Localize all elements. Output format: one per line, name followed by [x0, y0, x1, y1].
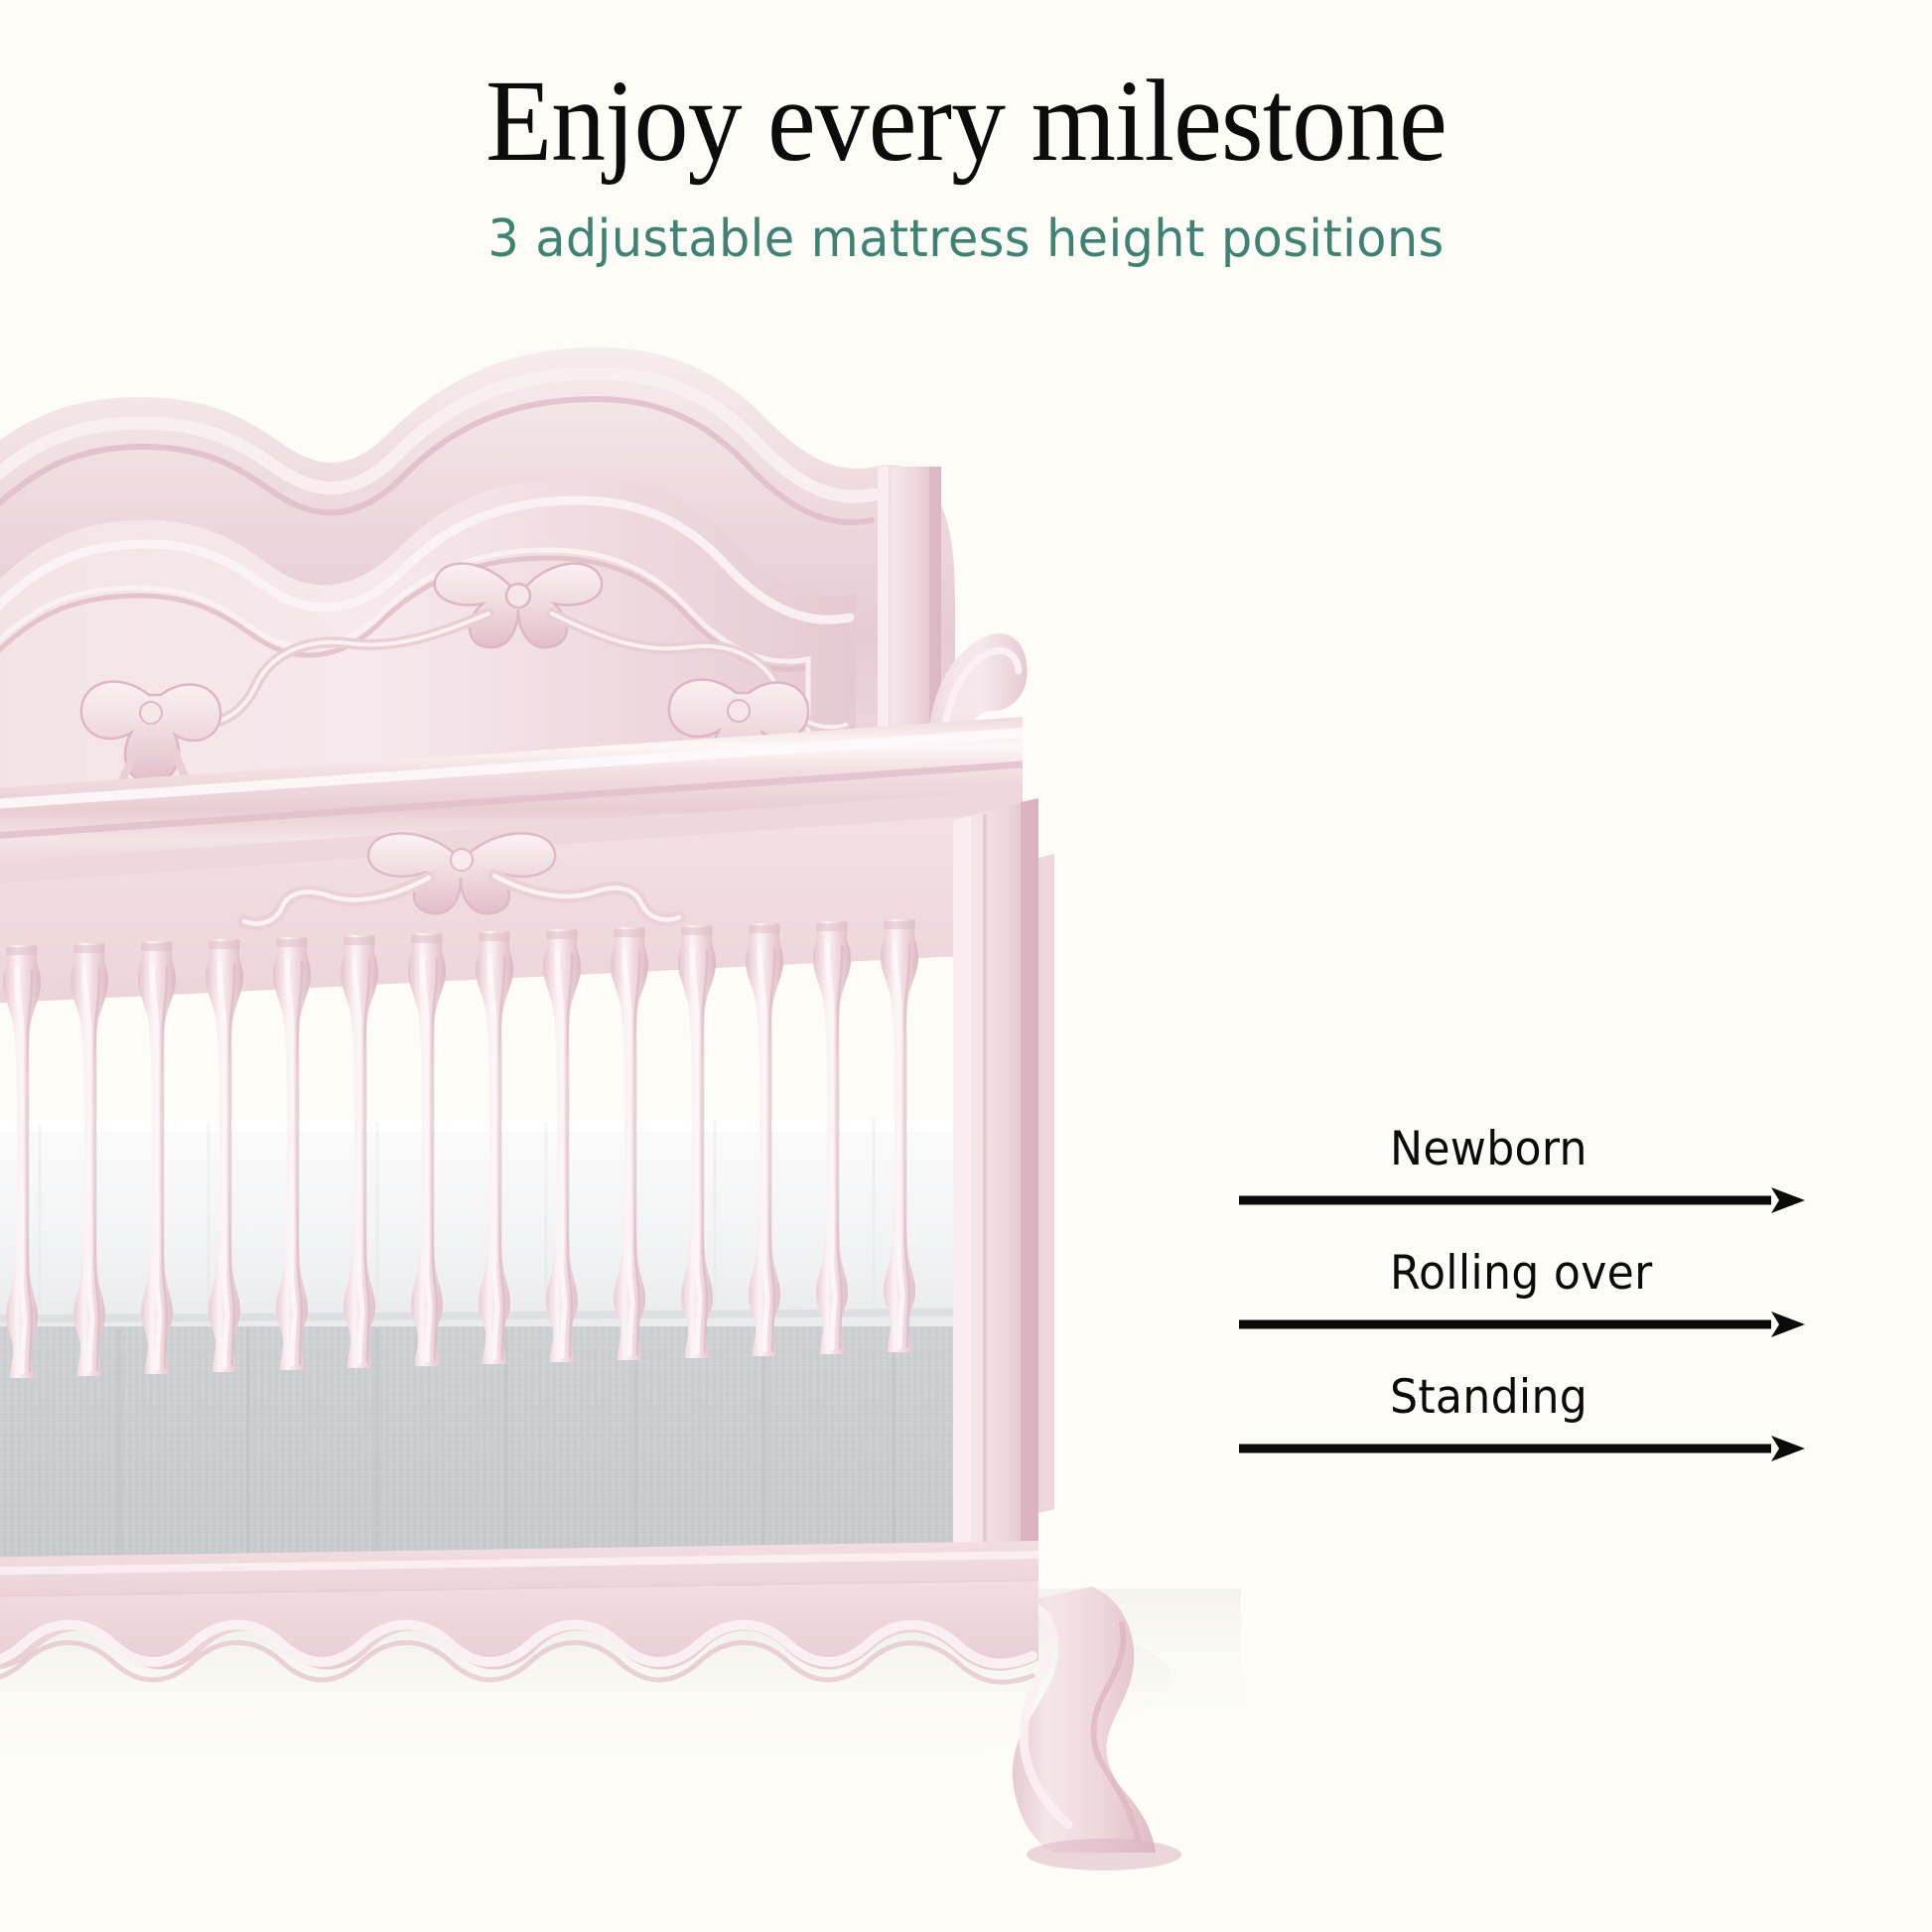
- crib-right-end-panel: [953, 798, 1054, 1569]
- scene-canvas: Enjoy every milestone 3 adjustable mattr…: [0, 0, 1932, 1932]
- arrow-right-icon: [1239, 1187, 1805, 1213]
- page-title: Enjoy every milestone: [68, 58, 1864, 184]
- callout-label-newborn: Newborn: [1390, 1122, 1587, 1176]
- callout-label-rolling-over: Rolling over: [1390, 1246, 1653, 1301]
- crib-illustration: [0, 0, 1932, 1932]
- heading-block: Enjoy every milestone 3 adjustable mattr…: [0, 58, 1932, 269]
- callout-rolling-over: Rolling over: [1239, 1246, 1815, 1355]
- callout-label-standing: Standing: [1390, 1370, 1587, 1425]
- arrow-right-icon: [1239, 1436, 1805, 1461]
- callout-newborn: Newborn: [1239, 1122, 1815, 1231]
- arrow-right-icon: [1239, 1311, 1805, 1337]
- callout-standing: Standing: [1239, 1370, 1815, 1479]
- page-subtitle: 3 adjustable mattress height positions: [49, 211, 1884, 268]
